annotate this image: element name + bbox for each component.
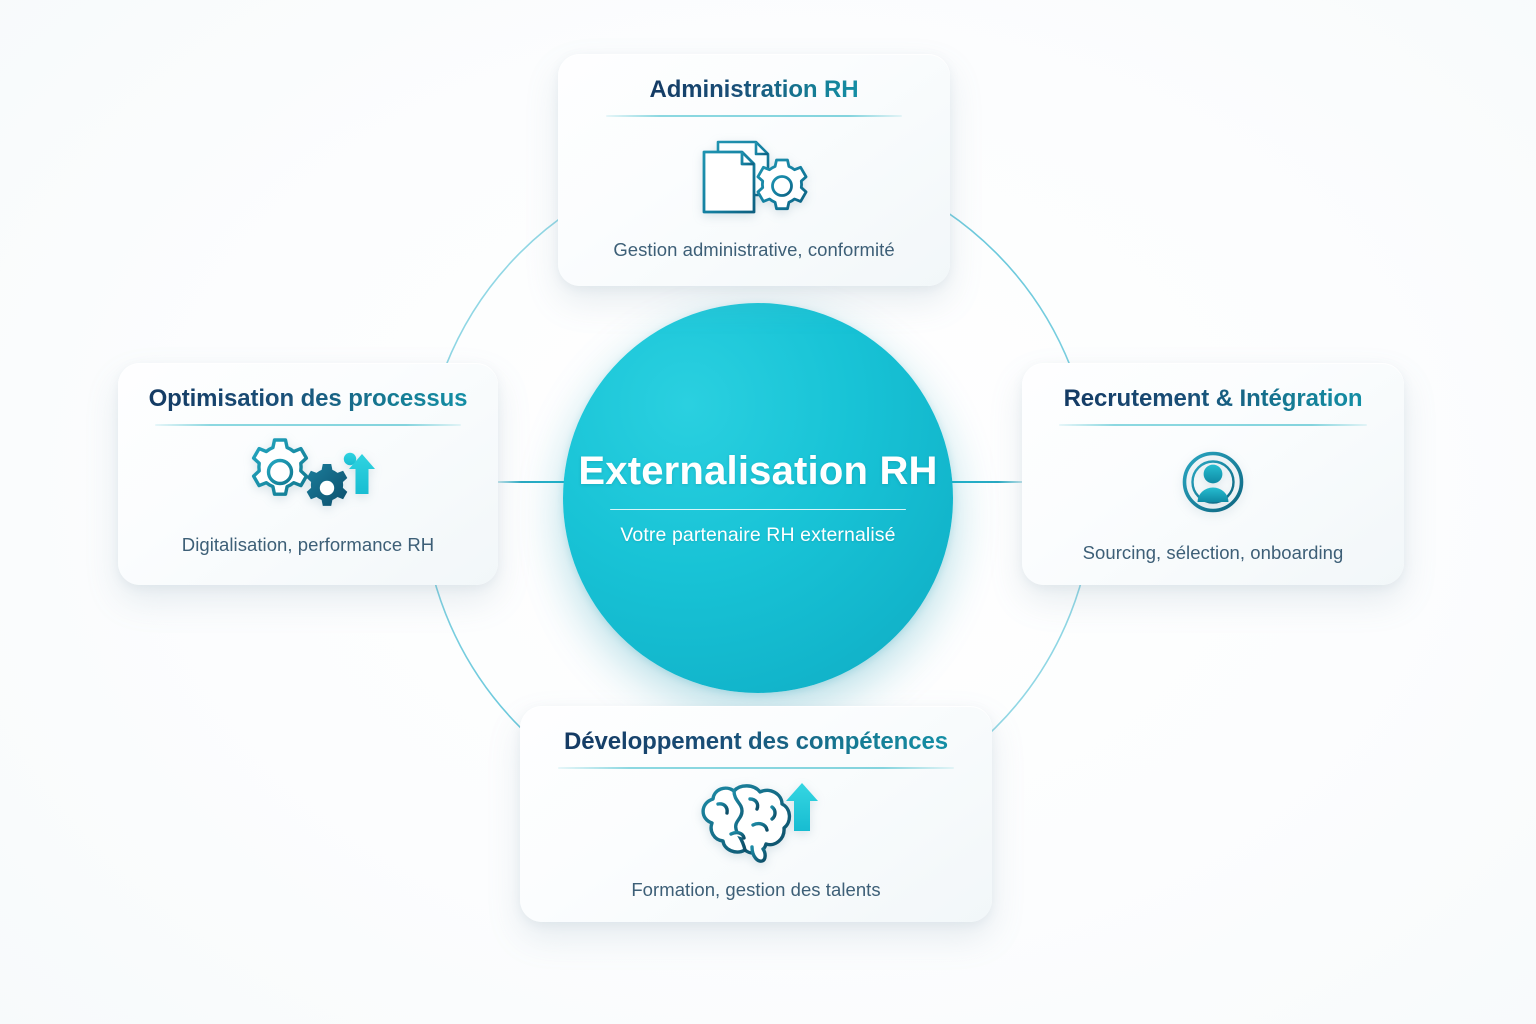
- connector-left-to-center: [497, 481, 567, 483]
- center-hub[interactable]: Externalisation RH Votre partenaire RH e…: [563, 303, 953, 693]
- card-divider: [1059, 424, 1367, 426]
- node-card-administration-rh[interactable]: Administration RH: [558, 54, 950, 286]
- hub-subtitle: Votre partenaire RH externalisé: [620, 524, 895, 547]
- node-card-recrutement-integration[interactable]: Recrutement & Intégration: [1022, 363, 1404, 585]
- card-title: Développement des compétences: [564, 728, 948, 756]
- brain-arrow-up-icon: [690, 777, 822, 869]
- card-divider: [606, 115, 902, 117]
- hub-divider: [610, 509, 906, 511]
- card-description: Sourcing, sélection, onboarding: [1083, 542, 1344, 564]
- target-person-icon: [1165, 436, 1261, 528]
- card-title: Recrutement & Intégration: [1064, 385, 1363, 413]
- card-description: Formation, gestion des talents: [631, 879, 880, 901]
- diagram-canvas: Administration RH: [0, 0, 1536, 1024]
- hub-title: Externalisation RH: [578, 449, 937, 493]
- document-gear-icon: [692, 133, 816, 221]
- card-divider: [558, 767, 954, 769]
- card-title: Optimisation des processus: [149, 385, 468, 413]
- node-card-developpement-des-competences[interactable]: Développement des compétences: [520, 706, 992, 922]
- gears-arrow-up-icon: [237, 436, 379, 520]
- card-description: Digitalisation, performance RH: [182, 534, 434, 556]
- card-title: Administration RH: [650, 76, 859, 104]
- card-divider: [155, 424, 461, 426]
- node-card-optimisation-des-processus[interactable]: Optimisation des processus: [118, 363, 498, 585]
- card-description: Gestion administrative, conformité: [613, 239, 894, 261]
- connector-center-to-right: [950, 481, 1024, 483]
